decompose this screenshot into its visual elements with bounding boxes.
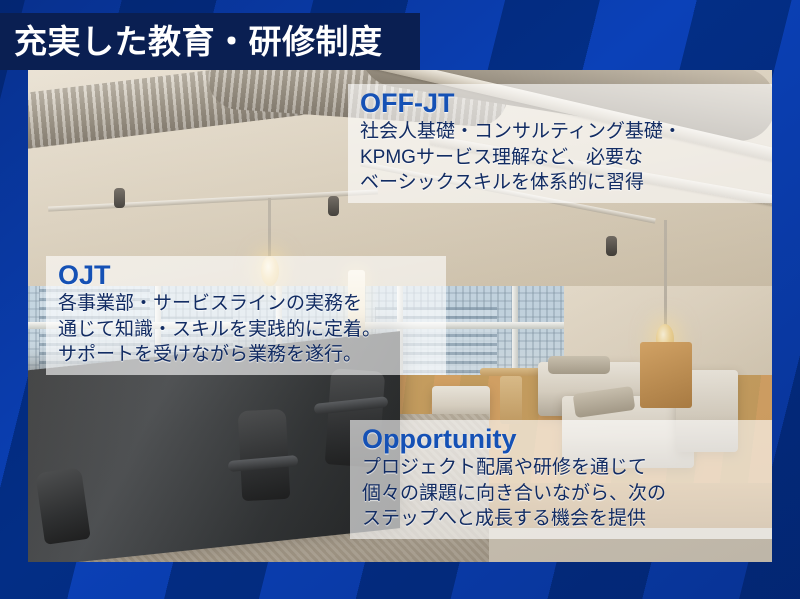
heading-opportunity: Opportunity <box>362 424 762 454</box>
heading-ojt: OJT <box>58 260 436 290</box>
page-title-box: 充実した教育・研修制度 <box>0 13 420 70</box>
body-line: ベーシックスキルを体系的に習得 <box>360 170 762 195</box>
body-line: 通じて知識・スキルを実践的に定着。 <box>58 317 436 342</box>
body-line: 社会人基礎・コンサルティング基礎・ <box>360 119 762 144</box>
text-block-off-jt: OFF-JT 社会人基礎・コンサルティング基礎・ KPMGサービス理解など、必要… <box>348 84 772 203</box>
body-line: 個々の課題に向き合いながら、次の <box>362 481 762 506</box>
text-block-opportunity: Opportunity プロジェクト配属や研修を通じて 個々の課題に向き合いなが… <box>350 420 772 539</box>
text-block-ojt: OJT 各事業部・サービスラインの実務を 通じて知識・スキルを実践的に定着。 サ… <box>46 256 446 375</box>
heading-off-jt: OFF-JT <box>360 88 762 118</box>
body-line: KPMGサービス理解など、必要な <box>360 145 762 170</box>
page-title: 充実した教育・研修制度 <box>14 25 383 58</box>
body-line: サポートを受けながら業務を遂行。 <box>58 342 436 367</box>
body-line: ステップへと成長する機会を提供 <box>362 506 762 531</box>
body-line: プロジェクト配属や研修を通じて <box>362 455 762 480</box>
body-line: 各事業部・サービスラインの実務を <box>58 291 436 316</box>
slide-root: 充実した教育・研修制度 OFF-JT 社会人基礎・コンサルティング基礎・ KPM… <box>0 0 800 599</box>
